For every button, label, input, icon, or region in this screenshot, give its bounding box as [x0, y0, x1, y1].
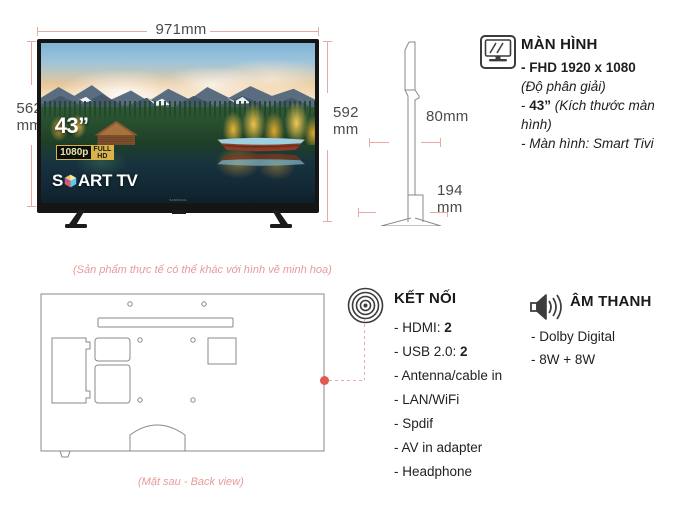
height-left-dim-line-bottom [31, 145, 32, 207]
screen-size-overlay: 43” [55, 113, 89, 139]
connectivity-item-value: 2 [444, 320, 452, 335]
audio-spec-list: - Dolby Digital - 8W + 8W [531, 325, 691, 371]
connectivity-item-value: 2 [460, 344, 468, 359]
display-spec-title: MÀN HÌNH [521, 36, 693, 53]
fullhd-badge: 1080p FULL HD [56, 145, 114, 160]
screen-cabin [93, 120, 140, 147]
width-tick-right [318, 27, 319, 36]
connector-dot [320, 376, 329, 385]
display-spec-size-note-cont: hình) [521, 115, 693, 134]
signal-waves-icon [347, 287, 384, 324]
screen-boat [216, 136, 306, 152]
audio-item: - 8W + 8W [531, 348, 691, 371]
height-right-dimension-label: 592 mm [333, 104, 377, 138]
display-spec-resolution: - FHD 1920 x 1080 [521, 58, 693, 77]
depth-dimension-label: 80mm [426, 108, 486, 125]
height-left-dim-line-top [31, 41, 32, 85]
connectivity-item: - Spdif [394, 412, 519, 436]
audio-spec-title: ÂM THANH [570, 293, 694, 310]
height-right-dim-line-bottom [327, 150, 328, 222]
height-right-tick-top [323, 41, 332, 42]
display-spec-type: - Màn hình: Smart Tivi [521, 134, 693, 153]
display-spec-size-note: (Kích thước màn [551, 98, 655, 113]
stand-depth-dimension-label: 194 mm [437, 182, 493, 216]
display-spec-size-value: 43” [529, 98, 551, 113]
connectivity-item: - Antenna/cable in [394, 364, 519, 388]
smart-s-letter: S [52, 171, 63, 191]
connectivity-item: - AV in adapter [394, 436, 519, 460]
tv-brand-mark: SAMSUNG [169, 198, 186, 202]
display-spec-block: MÀN HÌNH - FHD 1920 x 1080 (Độ phân giải… [521, 36, 693, 153]
connectivity-item: - USB 2.0: 2 [394, 340, 519, 364]
disclaimer-note: (Sản phẩm thực tế có thể khác với hình v… [73, 264, 332, 276]
connectivity-spec-title: KẾT NỐI [394, 290, 519, 307]
badge-resolution-text: 1080p [57, 146, 91, 159]
connectivity-item: - LAN/WiFi [394, 388, 519, 412]
connector-riser-line [364, 318, 365, 380]
badge-fullhd-text: FULL HD [91, 146, 113, 159]
smart-tv-cube-icon [64, 174, 77, 188]
depth-dim-line-left [369, 142, 389, 143]
height-right-dim-line-top [327, 41, 328, 93]
display-spec-size: - 43” (Kích thước màn [521, 96, 693, 115]
connectivity-spec-block: KẾT NỐI - HDMI: 2 - USB 2.0: 2 - Antenna… [394, 290, 519, 484]
tv-back-view-diagram [40, 293, 325, 463]
height-right-tick-bottom [323, 221, 332, 222]
tv-stand-foot-right [262, 210, 292, 228]
connectivity-item-label: - Antenna/cable in [394, 368, 502, 383]
connectivity-item-label: - USB 2.0: [394, 344, 460, 359]
depth-tick-right [440, 138, 441, 147]
height-left-dimension-label: 562 mm [2, 100, 42, 134]
width-dimension-label: 971mm [150, 21, 212, 38]
tv-center-logo-plate [172, 210, 186, 214]
back-view-caption: (Mặt sau - Back view) [138, 476, 244, 488]
depth-dim-line-right [421, 142, 441, 143]
tv-stand-foot-left [65, 210, 95, 228]
display-spec-size-dash: - [521, 98, 529, 113]
height-left-tick-top [27, 41, 36, 42]
connectivity-item: - HDMI: 2 [394, 316, 519, 340]
badge-hd-word: HD [97, 153, 107, 160]
connectivity-spec-list: - HDMI: 2 - USB 2.0: 2 - Antenna/cable i… [394, 316, 519, 484]
connectivity-item-label: - AV in adapter [394, 440, 482, 455]
connectivity-item-label: - LAN/WiFi [394, 392, 459, 407]
monitor-icon [480, 35, 516, 69]
connectivity-item-label: - Spdif [394, 416, 433, 431]
audio-spec-block: ÂM THANH [570, 293, 694, 310]
stand-depth-dim-line-left [358, 212, 376, 213]
connector-dotted-line [329, 380, 365, 381]
audio-item: - Dolby Digital [531, 325, 691, 348]
screen-boat-reflection [216, 153, 306, 167]
connectivity-item: - Headphone [394, 460, 519, 484]
tv-screen-image: 43” 1080p FULL HD S ART TV S [41, 43, 315, 203]
spec-sheet-page: 971mm 562 mm 592 mm [0, 0, 696, 522]
badge-full-word: FULL [93, 146, 111, 153]
depth-tick-left [369, 138, 370, 147]
connectivity-item-label: - Headphone [394, 464, 472, 479]
display-spec-resolution-note: (Độ phân giải) [521, 77, 693, 96]
width-dim-line-right [210, 31, 319, 32]
tv-front-view: 43” 1080p FULL HD S ART TV S [37, 39, 319, 213]
stand-depth-tick-left [358, 208, 359, 217]
height-left-tick-bottom [27, 206, 36, 207]
tv-side-view [375, 40, 445, 226]
speaker-icon [529, 292, 565, 322]
width-tick-left [37, 27, 38, 36]
width-dim-line-left [37, 31, 147, 32]
connectivity-item-label: - HDMI: [394, 320, 444, 335]
smart-tv-overlay: S ART TV [52, 171, 138, 191]
smart-tv-text: ART TV [78, 171, 138, 191]
